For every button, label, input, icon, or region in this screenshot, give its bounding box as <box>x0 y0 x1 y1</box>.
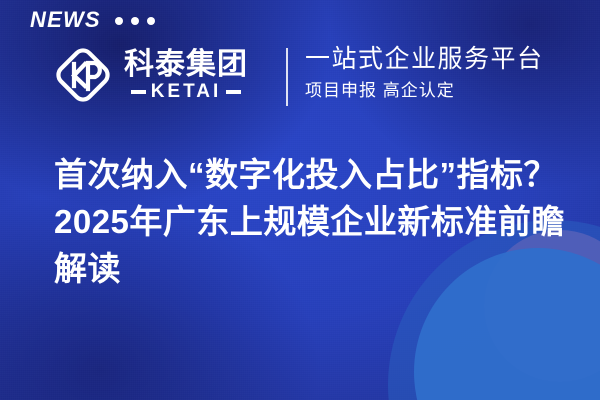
news-dots-icon <box>115 15 155 25</box>
tagline-main: 一站式企业服务平台 <box>305 44 544 74</box>
wordmark-rule-left-icon <box>131 90 146 94</box>
brand-divider <box>286 48 288 106</box>
news-banner: NEWS 科泰集团 KETA <box>0 0 600 400</box>
headline-text: 首次纳入“数字化投入占比”指标？2025年广东上规模企业新标准前瞻解读 <box>54 152 570 293</box>
brand-name-en: KETAI <box>151 82 222 101</box>
banner-content: NEWS 科泰集团 KETA <box>0 0 600 400</box>
ketai-diamond-kp-logo-icon <box>52 44 114 106</box>
news-label: NEWS <box>30 9 101 31</box>
news-eyebrow: NEWS <box>30 9 155 31</box>
tagline-block: 一站式企业服务平台 项目申报 高企认定 <box>305 44 544 101</box>
news-dot-icon <box>131 17 139 25</box>
brand-name-cn: 科泰集团 <box>124 49 248 81</box>
wordmark-rule-right-icon <box>226 90 241 94</box>
brand-lockup: 科泰集团 KETAI <box>52 44 248 106</box>
brand-wordmark: 科泰集团 KETAI <box>124 49 248 102</box>
brand-name-en-row: KETAI <box>124 82 248 101</box>
news-dot-icon <box>147 17 155 25</box>
news-dot-icon <box>115 17 123 25</box>
tagline-sub: 项目申报 高企认定 <box>305 81 544 101</box>
